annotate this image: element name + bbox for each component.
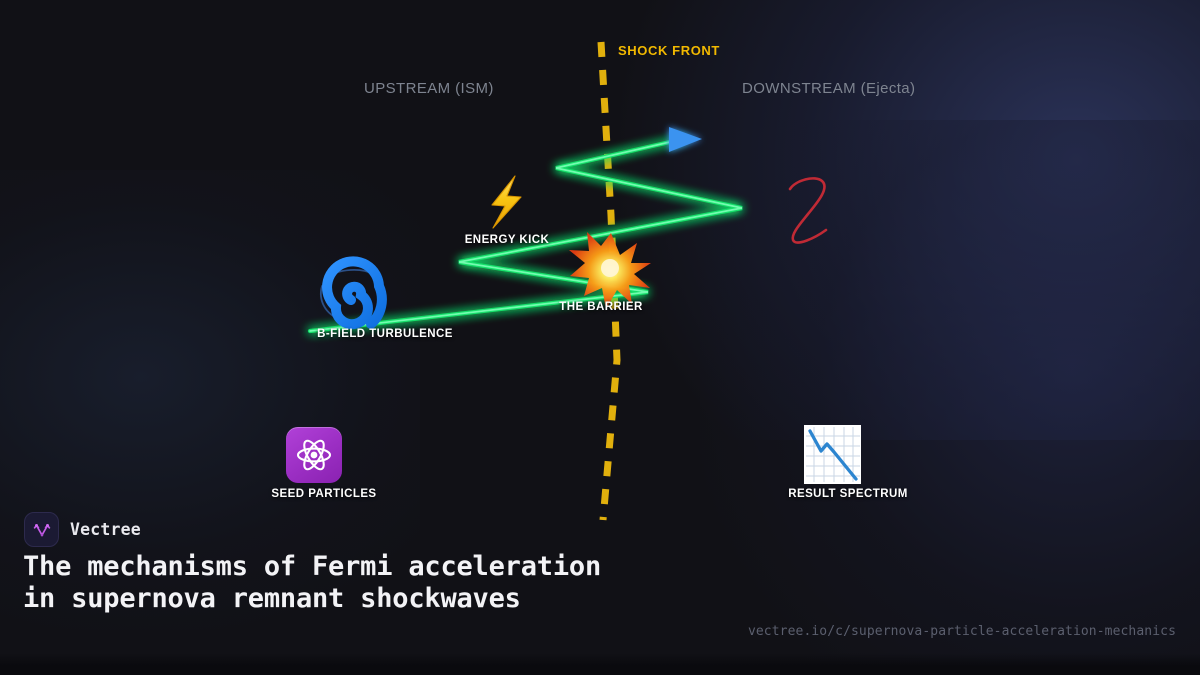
vectree-logo-icon (24, 512, 59, 547)
headline-title: The mechanisms of Fermi acceleration in … (23, 551, 643, 615)
brand-row: Vectree (24, 512, 141, 547)
explosion-icon (569, 232, 651, 309)
node-label-b-field-turbulence: B-FIELD TURBULENCE (317, 328, 453, 340)
shock-front-label: SHOCK FRONT (618, 43, 720, 58)
seed-particles-tile (286, 427, 342, 483)
vectree-glyph (32, 520, 52, 540)
brand-name: Vectree (70, 520, 141, 539)
lightning-bolt-icon (492, 176, 521, 228)
line-chart-icon (804, 425, 861, 484)
node-label-result-spectrum: RESULT SPECTRUM (788, 488, 908, 500)
node-label-seed-particles: SEED PARTICLES (271, 488, 376, 500)
node-label-the-barrier: THE BARRIER (559, 301, 643, 313)
region-label-downstream: DOWNSTREAM (Ejecta) (742, 80, 915, 97)
slide-canvas: UPSTREAM (ISM) DOWNSTREAM (Ejecta) SHOCK… (0, 0, 1200, 675)
trajectory-arrow-icon (669, 127, 702, 152)
node-label-energy-kick: ENERGY KICK (465, 234, 550, 246)
atom-icon (294, 435, 334, 475)
red-squiggle-annotation (790, 178, 826, 242)
spiral-cyclone-icon (321, 261, 382, 324)
region-label-upstream: UPSTREAM (ISM) (364, 80, 494, 97)
footer-url: vectree.io/c/supernova-particle-accelera… (748, 624, 1176, 639)
result-spectrum-tile (804, 425, 861, 484)
